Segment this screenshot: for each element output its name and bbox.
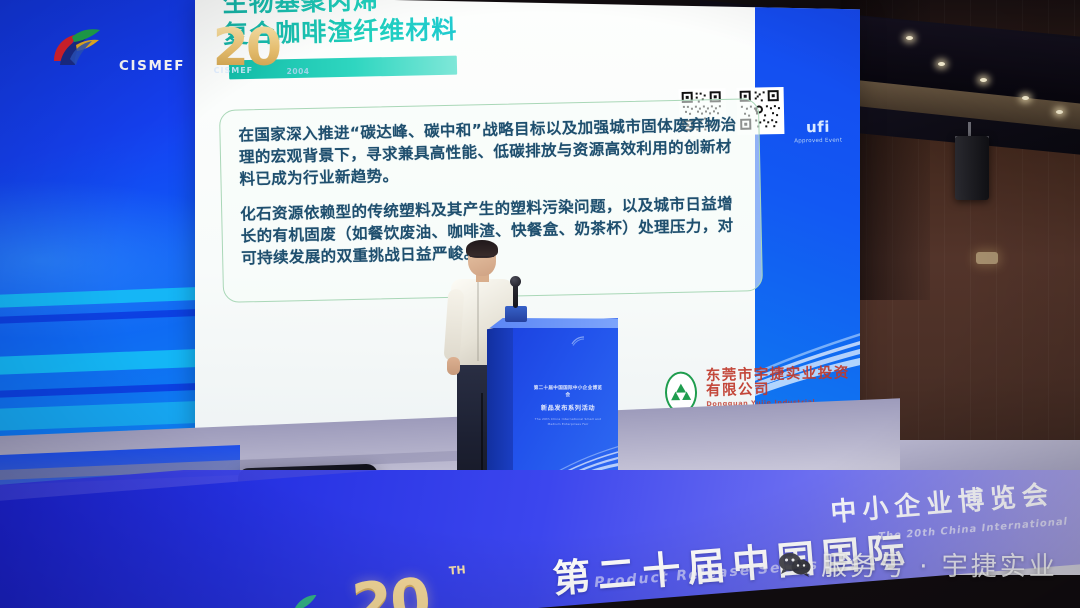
cismef-mark-icon <box>50 25 106 75</box>
wechat-watermark: 服务号 · 宇捷实业 <box>778 546 1058 583</box>
slide-paragraph-1: 在国家深入推进“碳达峰、碳中和”战略目标以及加强城市固体废弃物治理的宏观背景下，… <box>238 114 741 191</box>
cismef-wordmark: CISMEF <box>119 58 185 74</box>
lectern-text-line3: The 20th China International Small and M… <box>533 417 603 427</box>
banner-anniversary-number: 20 <box>349 565 431 608</box>
lectern-signage: 第二十届中国国际中小企业博览会 新品发布系列活动 The 20th China … <box>533 386 603 427</box>
ufi-label: ufi <box>794 118 842 137</box>
ceiling-spotlight <box>1022 96 1029 100</box>
wechat-icon <box>778 551 812 579</box>
led-wall-stripe <box>0 398 218 432</box>
hanging-loudspeaker <box>955 136 989 200</box>
ufi-sublabel: Approved Event <box>794 138 842 145</box>
lectern-text-line1: 第二十届中国国际中小企业博览会 <box>533 386 603 400</box>
cismef-logo: CISMEF 20 CISMEF 2004 <box>50 22 309 78</box>
microphone-stem <box>513 284 518 308</box>
microphone-head <box>510 276 521 287</box>
anniversary-year: 2004 <box>287 67 310 76</box>
ceiling-spotlight <box>906 36 913 40</box>
banner-leaf-icon <box>291 593 318 608</box>
ceiling-spotlight <box>938 62 945 66</box>
lectern-emblem-icon <box>571 336 585 346</box>
ufi-approved-event-logo: ufi Approved Event <box>794 118 843 145</box>
led-wall-stripe <box>0 380 218 399</box>
led-wall-stripe <box>0 346 218 376</box>
presenter-hand <box>447 357 460 375</box>
banner-anniversary-ordinal: TH <box>449 563 467 577</box>
lectern-text-line2: 新品发布系列活动 <box>533 403 603 412</box>
ceiling-spotlight <box>980 78 987 82</box>
presenter-leg-separation <box>481 393 483 481</box>
company-name-cn: 东莞市宇捷实业投资有限公司 <box>706 366 860 398</box>
presenter-glasses <box>470 256 494 263</box>
microphone-base <box>505 306 527 322</box>
presenter-shirt-placket <box>477 281 479 361</box>
anniversary-mark: 20 CISMEF 2004 <box>213 22 309 78</box>
logo-divider <box>198 29 200 71</box>
ceiling-spotlight <box>1056 110 1063 114</box>
photo-scene: ufi Approved Event 生物基聚丙烯 复合咖啡渣纤维材料 <box>0 0 1080 608</box>
wall-light-fixture <box>976 252 998 264</box>
wechat-watermark-text: 服务号 · 宇捷实业 <box>821 546 1058 583</box>
anniversary-subtitle: CISMEF <box>214 66 254 75</box>
